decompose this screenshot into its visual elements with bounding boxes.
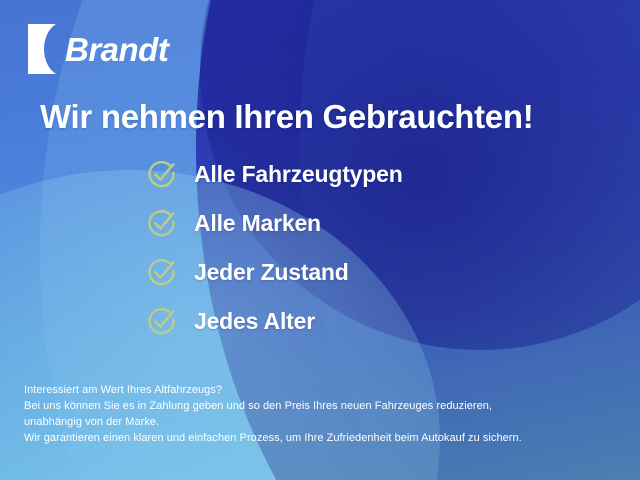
checklist-item-label: Alle Marken xyxy=(194,212,321,235)
feature-checklist: Alle Fahrzeugtypen Alle Marken Jeder Zus… xyxy=(146,158,403,337)
brand-name: Brandt xyxy=(65,33,168,66)
check-circle-icon xyxy=(146,256,178,288)
check-circle-icon xyxy=(146,158,178,190)
checklist-item-label: Jedes Alter xyxy=(194,310,315,333)
checklist-item: Alle Fahrzeugtypen xyxy=(146,158,403,190)
footer-line: Bei uns können Sie es in Zahlung geben u… xyxy=(24,398,584,414)
footer-line: unabhängig von der Marke. xyxy=(24,414,584,430)
check-circle-icon xyxy=(146,305,178,337)
checklist-item: Jedes Alter xyxy=(146,305,403,337)
footer-line: Wir garantieren einen klaren und einfach… xyxy=(24,430,584,446)
checklist-item-label: Jeder Zustand xyxy=(194,261,349,284)
brand-logo: Brandt xyxy=(28,24,168,74)
bracket-mark-icon xyxy=(28,24,56,74)
footer-description: Interessiert am Wert Ihres Altfahrzeugs?… xyxy=(24,382,584,446)
checklist-item-label: Alle Fahrzeugtypen xyxy=(194,163,403,186)
headline: Wir nehmen Ihren Gebrauchten! xyxy=(40,100,533,135)
checklist-item: Jeder Zustand xyxy=(146,256,403,288)
check-circle-icon xyxy=(146,207,178,239)
checklist-item: Alle Marken xyxy=(146,207,403,239)
footer-line: Interessiert am Wert Ihres Altfahrzeugs? xyxy=(24,382,584,398)
promo-banner: Brandt Wir nehmen Ihren Gebrauchten! All… xyxy=(0,0,640,480)
banner-content: Brandt Wir nehmen Ihren Gebrauchten! All… xyxy=(0,0,640,480)
